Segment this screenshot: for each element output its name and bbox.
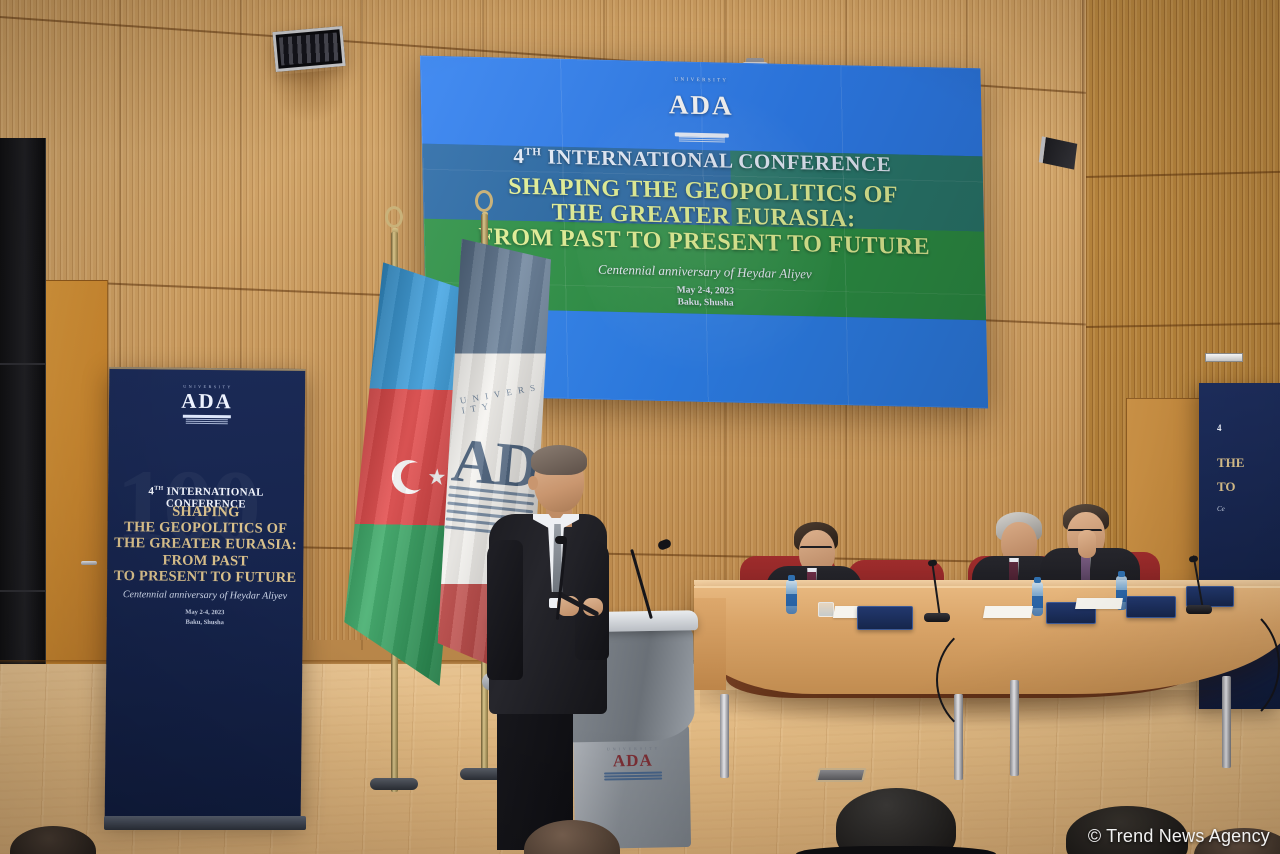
banner-title-line-3: THE GREATER EURASIA:: [107, 535, 303, 553]
screen-location: Baku, Shusha: [677, 298, 733, 309]
papers-2: [983, 606, 1033, 618]
banner-title-line-2: THE GEOPOLITICS OF: [108, 519, 304, 537]
screen-title-line-3: FROM PAST TO PRESENT TO FUTURE: [478, 225, 930, 261]
banner-title-line-1: SHAPING: [108, 503, 304, 521]
table-mic-1: [924, 560, 950, 622]
flagpole-finial-ada: [475, 190, 493, 212]
banner-logo-waves-icon: [186, 419, 228, 424]
floor-cable-1: [936, 620, 1056, 740]
banner-location: Baku, Shusha: [107, 617, 303, 629]
ada-logo-waves-icon: [679, 137, 725, 145]
water-glass-1: [818, 602, 834, 617]
wall-monitor-icon: [272, 26, 345, 72]
wall-monitor-shadow: [270, 69, 352, 126]
panelist-1-glasses-icon: [800, 546, 832, 551]
banner-meta: May 2-4, 2023 Baku, Shusha: [107, 607, 303, 629]
rollup-banner-left: 100 U N I V E R S I T Y ADA 4TH INTERNAT…: [105, 367, 306, 821]
banner-ada-logo: U N I V E R S I T Y ADA: [109, 383, 305, 426]
banner2-line-2: TO: [1199, 479, 1280, 495]
screen-conference-heading: 4TH INTERNATIONAL CONFERENCE: [513, 144, 892, 178]
speaker-ear: [528, 476, 538, 490]
table-leg-1: [720, 694, 729, 778]
panel-table-left-end: [694, 598, 726, 690]
nameplate-3: [1126, 596, 1176, 618]
conf-ordinal: TH: [524, 146, 541, 158]
flag-stand-az: [370, 778, 418, 790]
nameplate-1: [857, 606, 913, 630]
conf-rest: INTERNATIONAL CONFERENCE: [541, 144, 891, 176]
banner-title-block: SHAPING THE GEOPOLITICS OF THE GREATER E…: [107, 503, 304, 586]
banner-logo-word: ADA: [109, 388, 305, 415]
lectern-logo-waves-icon: [596, 771, 670, 780]
banner-stand-base: [104, 816, 306, 830]
banner2-subtitle: Ce: [1199, 505, 1280, 513]
exit-sign-icon: [1205, 353, 1243, 362]
lectern-mic-1-head: [555, 536, 567, 544]
audience-shoulder-1: [796, 846, 996, 854]
floor-cable-2: [1160, 600, 1280, 730]
flagpole-finial-az: [385, 206, 403, 228]
papers-3: [1075, 598, 1123, 609]
speaker-hair: [531, 445, 587, 475]
lectern-ada-logo: U N I V E R S I T Y ADA: [596, 745, 671, 792]
speaker-left-arm: [487, 540, 523, 680]
banner-title-line-4: FROM PAST: [107, 552, 303, 570]
conf-number: 4: [513, 144, 525, 168]
banner-title-line-5: TO PRESENT TO FUTURE: [107, 568, 303, 586]
banner2-conf: 4: [1199, 423, 1280, 433]
ada-logo-screen: U N I V E R S I T Y ADA: [657, 77, 745, 145]
conference-photo: U N I V E R S I T Y ADA 4TH INTERNATIONA…: [0, 0, 1280, 854]
watermark: © Trend News Agency: [1088, 826, 1270, 847]
water-bottle-1: [786, 580, 797, 614]
lectern-logo-word: ADA: [596, 750, 670, 771]
panelist-3-hand: [1078, 530, 1096, 558]
floor-cable-plate: [815, 768, 866, 782]
banner2-line-1: THE: [1199, 455, 1280, 471]
banner-subtitle: Centennial anniversary of Heydar Aliyev: [107, 589, 303, 602]
speaker-column: [0, 138, 46, 698]
water-bottle-2: [1032, 582, 1043, 616]
screen-subtitle: Centennial anniversary of Heydar Aliyev: [598, 262, 812, 283]
screen-dates: May 2-4, 2023: [677, 286, 735, 297]
ada-logo-word: ADA: [658, 89, 745, 122]
